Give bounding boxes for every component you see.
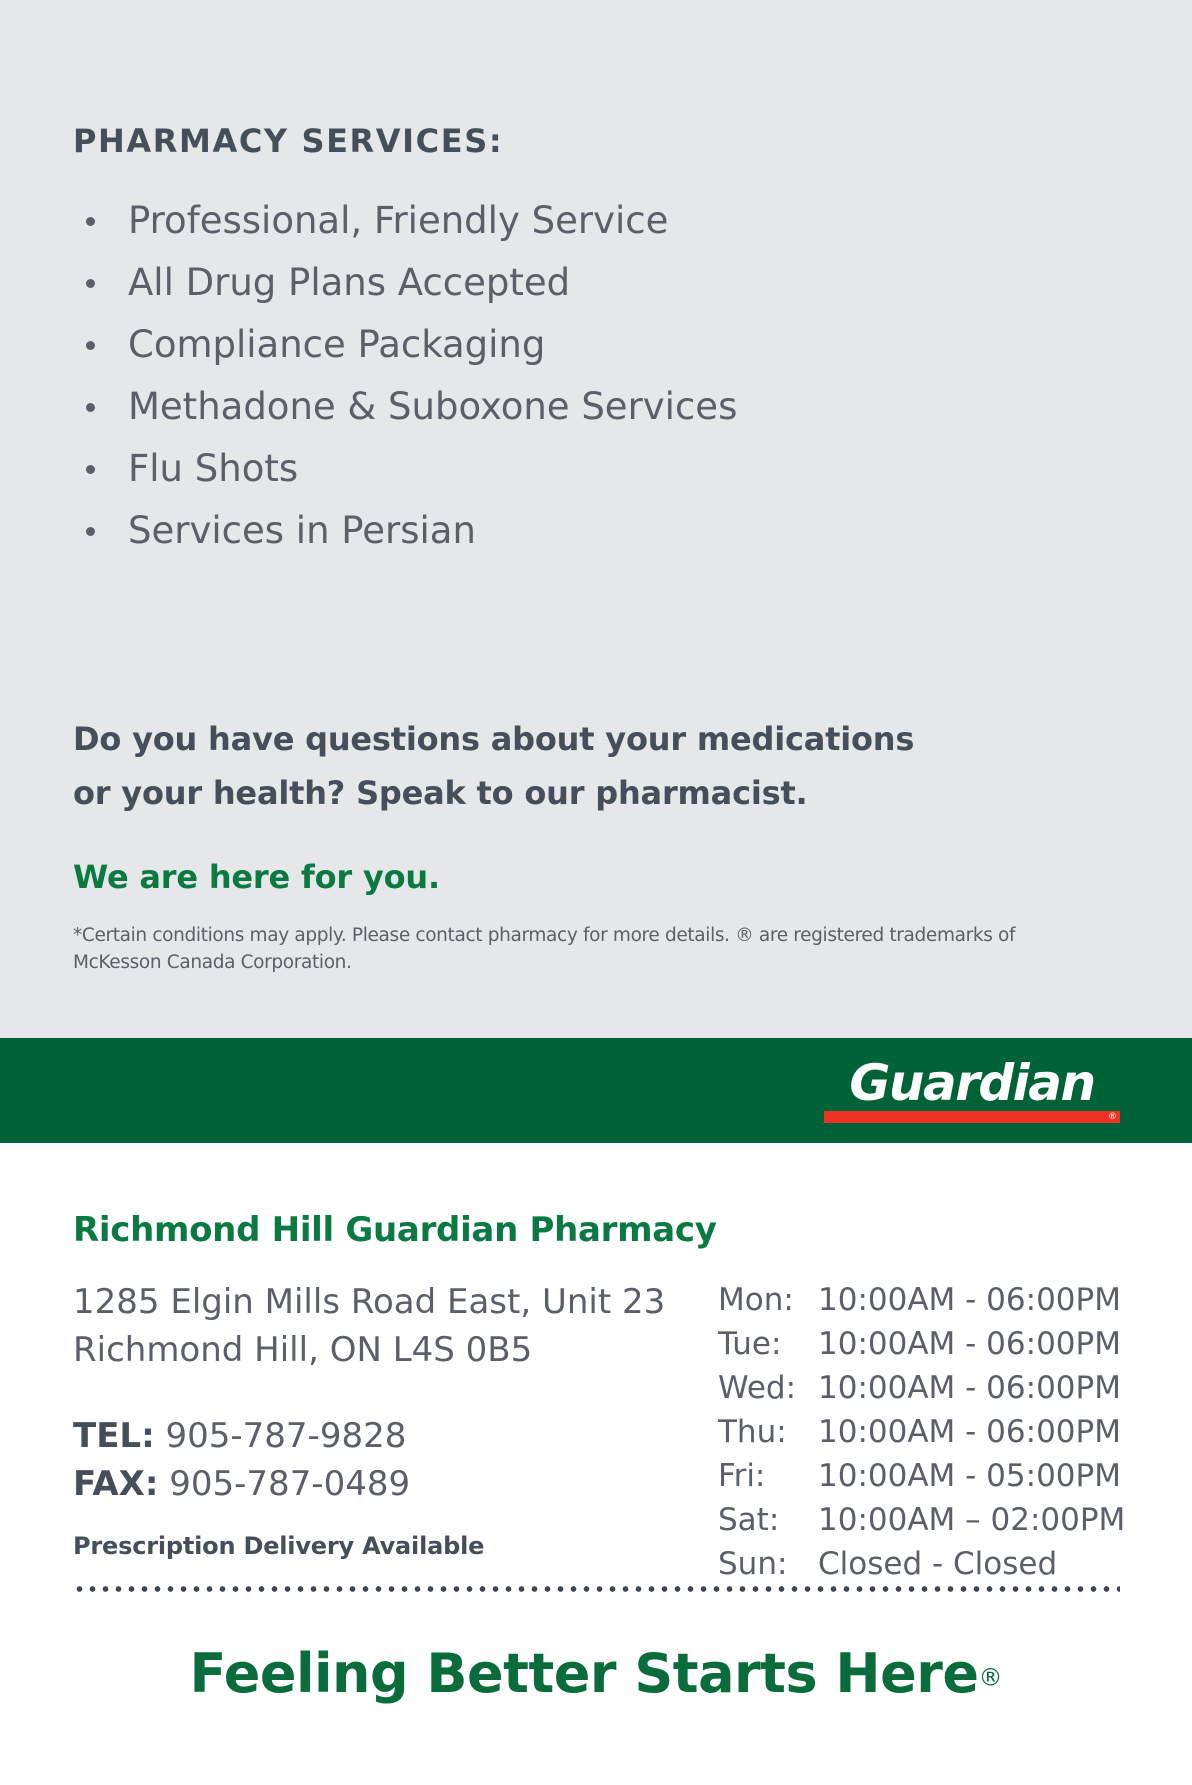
telephone-label: TEL: bbox=[73, 1416, 155, 1456]
hours-day: Mon: bbox=[718, 1278, 818, 1322]
pharmacy-flyer: PHARMACY SERVICES: Professional, Friendl… bbox=[0, 0, 1192, 1785]
hours-time: 10:00AM - 06:00PM bbox=[818, 1410, 1125, 1454]
service-label: Professional, Friendly Service bbox=[128, 199, 668, 242]
hours-day: Thu: bbox=[718, 1410, 818, 1454]
guardian-logo: Guardian ® bbox=[824, 1055, 1120, 1127]
telephone-row: TEL: 905-787-9828 bbox=[73, 1412, 410, 1460]
registered-mark-icon: ® bbox=[1108, 1113, 1117, 1122]
bullet-icon bbox=[86, 279, 95, 288]
bullet-icon bbox=[86, 217, 95, 226]
hours-time: 10:00AM - 06:00PM bbox=[818, 1322, 1125, 1366]
list-item: All Drug Plans Accepted bbox=[73, 252, 1033, 314]
services-list: Professional, Friendly Service All Drug … bbox=[73, 190, 1033, 562]
address-line-2: Richmond Hill, ON L4S 0B5 bbox=[73, 1326, 713, 1374]
table-row: Fri: 10:00AM - 05:00PM bbox=[718, 1454, 1125, 1498]
table-row: Wed: 10:00AM - 06:00PM bbox=[718, 1366, 1125, 1410]
hours-time: Closed - Closed bbox=[818, 1542, 1125, 1586]
hours-day: Sun: bbox=[718, 1542, 818, 1586]
hours-time: 10:00AM – 02:00PM bbox=[818, 1498, 1125, 1542]
table-row: Sat: 10:00AM – 02:00PM bbox=[718, 1498, 1125, 1542]
table-row: Tue: 10:00AM - 06:00PM bbox=[718, 1322, 1125, 1366]
page-title: PHARMACY SERVICES: bbox=[73, 122, 503, 160]
here-for-you-text: We are here for you. bbox=[73, 858, 440, 896]
list-item: Compliance Packaging bbox=[73, 314, 1033, 376]
list-item: Flu Shots bbox=[73, 438, 1033, 500]
delivery-note: Prescription Delivery Available bbox=[73, 1532, 484, 1560]
bullet-icon bbox=[86, 341, 95, 350]
fax-row: FAX: 905-787-0489 bbox=[73, 1460, 410, 1508]
tagline-block: Feeling Better Starts Here® bbox=[0, 1642, 1192, 1705]
guardian-underline-bar: ® bbox=[824, 1111, 1120, 1123]
table-row: Sun: Closed - Closed bbox=[718, 1542, 1125, 1586]
fax-label: FAX: bbox=[73, 1464, 158, 1504]
address-block: 1285 Elgin Mills Road East, Unit 23 Rich… bbox=[73, 1278, 713, 1374]
hours-day: Fri: bbox=[718, 1454, 818, 1498]
list-item: Methadone & Suboxone Services bbox=[73, 376, 1033, 438]
hours-table: Mon: 10:00AM - 06:00PM Tue: 10:00AM - 06… bbox=[718, 1278, 1125, 1586]
hours-day: Tue: bbox=[718, 1322, 818, 1366]
question-line-2: or your health? Speak to our pharmacist. bbox=[73, 766, 1073, 820]
contact-block: TEL: 905-787-9828 FAX: 905-787-0489 bbox=[73, 1412, 410, 1508]
services-panel: PHARMACY SERVICES: Professional, Friendl… bbox=[0, 0, 1192, 1038]
fax-value[interactable]: 905-787-0489 bbox=[169, 1464, 410, 1504]
hours-day: Wed: bbox=[718, 1366, 818, 1410]
bullet-icon bbox=[86, 403, 95, 412]
hours-time: 10:00AM - 06:00PM bbox=[818, 1278, 1125, 1322]
hours-day: Sat: bbox=[718, 1498, 818, 1542]
service-label: Services in Persian bbox=[128, 509, 476, 552]
address-line-1: 1285 Elgin Mills Road East, Unit 23 bbox=[73, 1278, 713, 1326]
list-item: Professional, Friendly Service bbox=[73, 190, 1033, 252]
table-row: Mon: 10:00AM - 06:00PM bbox=[718, 1278, 1125, 1322]
store-name: Richmond Hill Guardian Pharmacy bbox=[73, 1210, 717, 1250]
registered-mark-icon: ® bbox=[978, 1664, 1002, 1692]
service-label: Compliance Packaging bbox=[128, 323, 545, 366]
service-label: All Drug Plans Accepted bbox=[128, 261, 570, 304]
service-label: Methadone & Suboxone Services bbox=[128, 385, 737, 428]
service-label: Flu Shots bbox=[128, 447, 298, 490]
list-item: Services in Persian bbox=[73, 500, 1033, 562]
tagline-text: Feeling Better Starts Here bbox=[190, 1642, 979, 1705]
question-line-1: Do you have questions about your medicat… bbox=[73, 712, 1073, 766]
hours-time: 10:00AM - 06:00PM bbox=[818, 1366, 1125, 1410]
dotted-divider bbox=[73, 1585, 1120, 1593]
brand-banner: Guardian ® bbox=[0, 1038, 1192, 1143]
question-block: Do you have questions about your medicat… bbox=[73, 712, 1073, 820]
telephone-value[interactable]: 905-787-9828 bbox=[166, 1416, 407, 1456]
disclaimer-text: *Certain conditions may apply. Please co… bbox=[73, 922, 1058, 976]
guardian-wordmark: Guardian bbox=[824, 1055, 1120, 1111]
hours-time: 10:00AM - 05:00PM bbox=[818, 1454, 1125, 1498]
bullet-icon bbox=[86, 465, 95, 474]
table-row: Thu: 10:00AM - 06:00PM bbox=[718, 1410, 1125, 1454]
bullet-icon bbox=[86, 527, 95, 536]
